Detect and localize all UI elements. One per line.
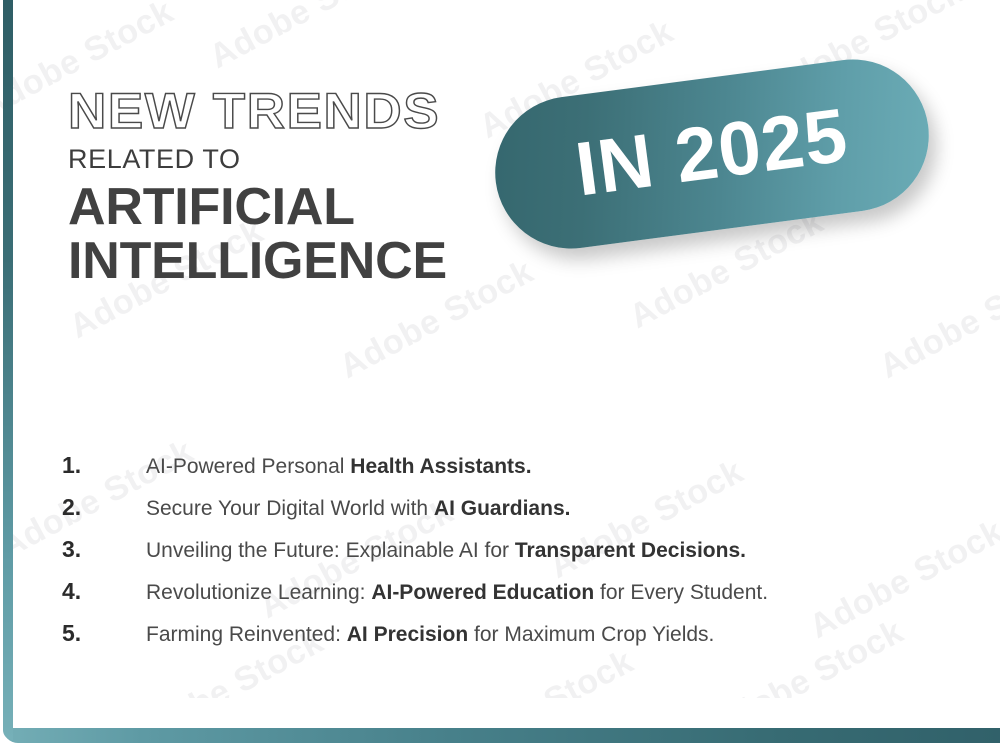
list-item: 4. Revolutionize Learning: AI-Powered Ed…: [62, 578, 942, 620]
headline-subtitle: RELATED TO: [68, 146, 447, 173]
list-item-emphasis: AI Guardians.: [434, 497, 571, 520]
headline-outline-title: NEW TRENDS: [68, 86, 470, 136]
poster-canvas: Adobe Stock Adobe Stock Adobe Stock Adob…: [0, 0, 1000, 743]
year-badge: IN 2025: [486, 50, 938, 258]
list-item-emphasis: AI Precision: [347, 623, 468, 646]
headline-main-line-2: INTELLIGENCE: [68, 235, 447, 289]
year-badge-label: IN 2025: [571, 91, 854, 217]
trends-list: 1. AI-Powered Personal Health Assistants…: [62, 452, 942, 662]
frame-bottom-bar: [3, 728, 1000, 743]
list-item-number: 3.: [62, 536, 146, 563]
list-item: 5. Farming Reinvented: AI Precision for …: [62, 620, 942, 662]
frame-left-bar: [3, 0, 13, 740]
list-item-text: Revolutionize Learning: AI-Powered Educa…: [146, 581, 768, 605]
list-item-text: AI-Powered Personal Health Assistants.: [146, 455, 532, 479]
list-item-text: Secure Your Digital World with AI Guardi…: [146, 497, 570, 521]
list-item-suffix: for Every Student.: [594, 581, 768, 604]
list-item-number: 4.: [62, 578, 146, 605]
list-item: 2. Secure Your Digital World with AI Gua…: [62, 494, 942, 536]
list-item-suffix: for Maximum Crop Yields.: [468, 623, 714, 646]
list-item-prefix: AI-Powered Personal: [146, 455, 350, 478]
watermark-text: Adobe Stock: [873, 252, 1000, 387]
list-item-emphasis: AI-Powered Education: [371, 581, 594, 604]
list-item-emphasis: Transparent Decisions.: [515, 539, 746, 562]
list-item-number: 5.: [62, 620, 146, 647]
list-item-text: Farming Reinvented: AI Precision for Max…: [146, 623, 714, 647]
watermark-text: Adobe Stock: [203, 0, 410, 77]
list-item-number: 1.: [62, 452, 146, 479]
headline-block: NEW TRENDS RELATED TO ARTIFICIAL INTELLI…: [68, 86, 447, 288]
headline-main-line-1: ARTIFICIAL: [68, 181, 447, 235]
list-item-prefix: Farming Reinvented:: [146, 623, 347, 646]
list-item-prefix: Unveiling the Future: Explainable AI for: [146, 539, 515, 562]
list-item-prefix: Revolutionize Learning:: [146, 581, 371, 604]
frame-inner-mask: [13, 698, 1000, 728]
list-item: 3. Unveiling the Future: Explainable AI …: [62, 536, 942, 578]
list-item-prefix: Secure Your Digital World with: [146, 497, 434, 520]
list-item-number: 2.: [62, 494, 146, 521]
list-item-emphasis: Health Assistants.: [350, 455, 531, 478]
list-item-text: Unveiling the Future: Explainable AI for…: [146, 539, 746, 563]
list-item: 1. AI-Powered Personal Health Assistants…: [62, 452, 942, 494]
